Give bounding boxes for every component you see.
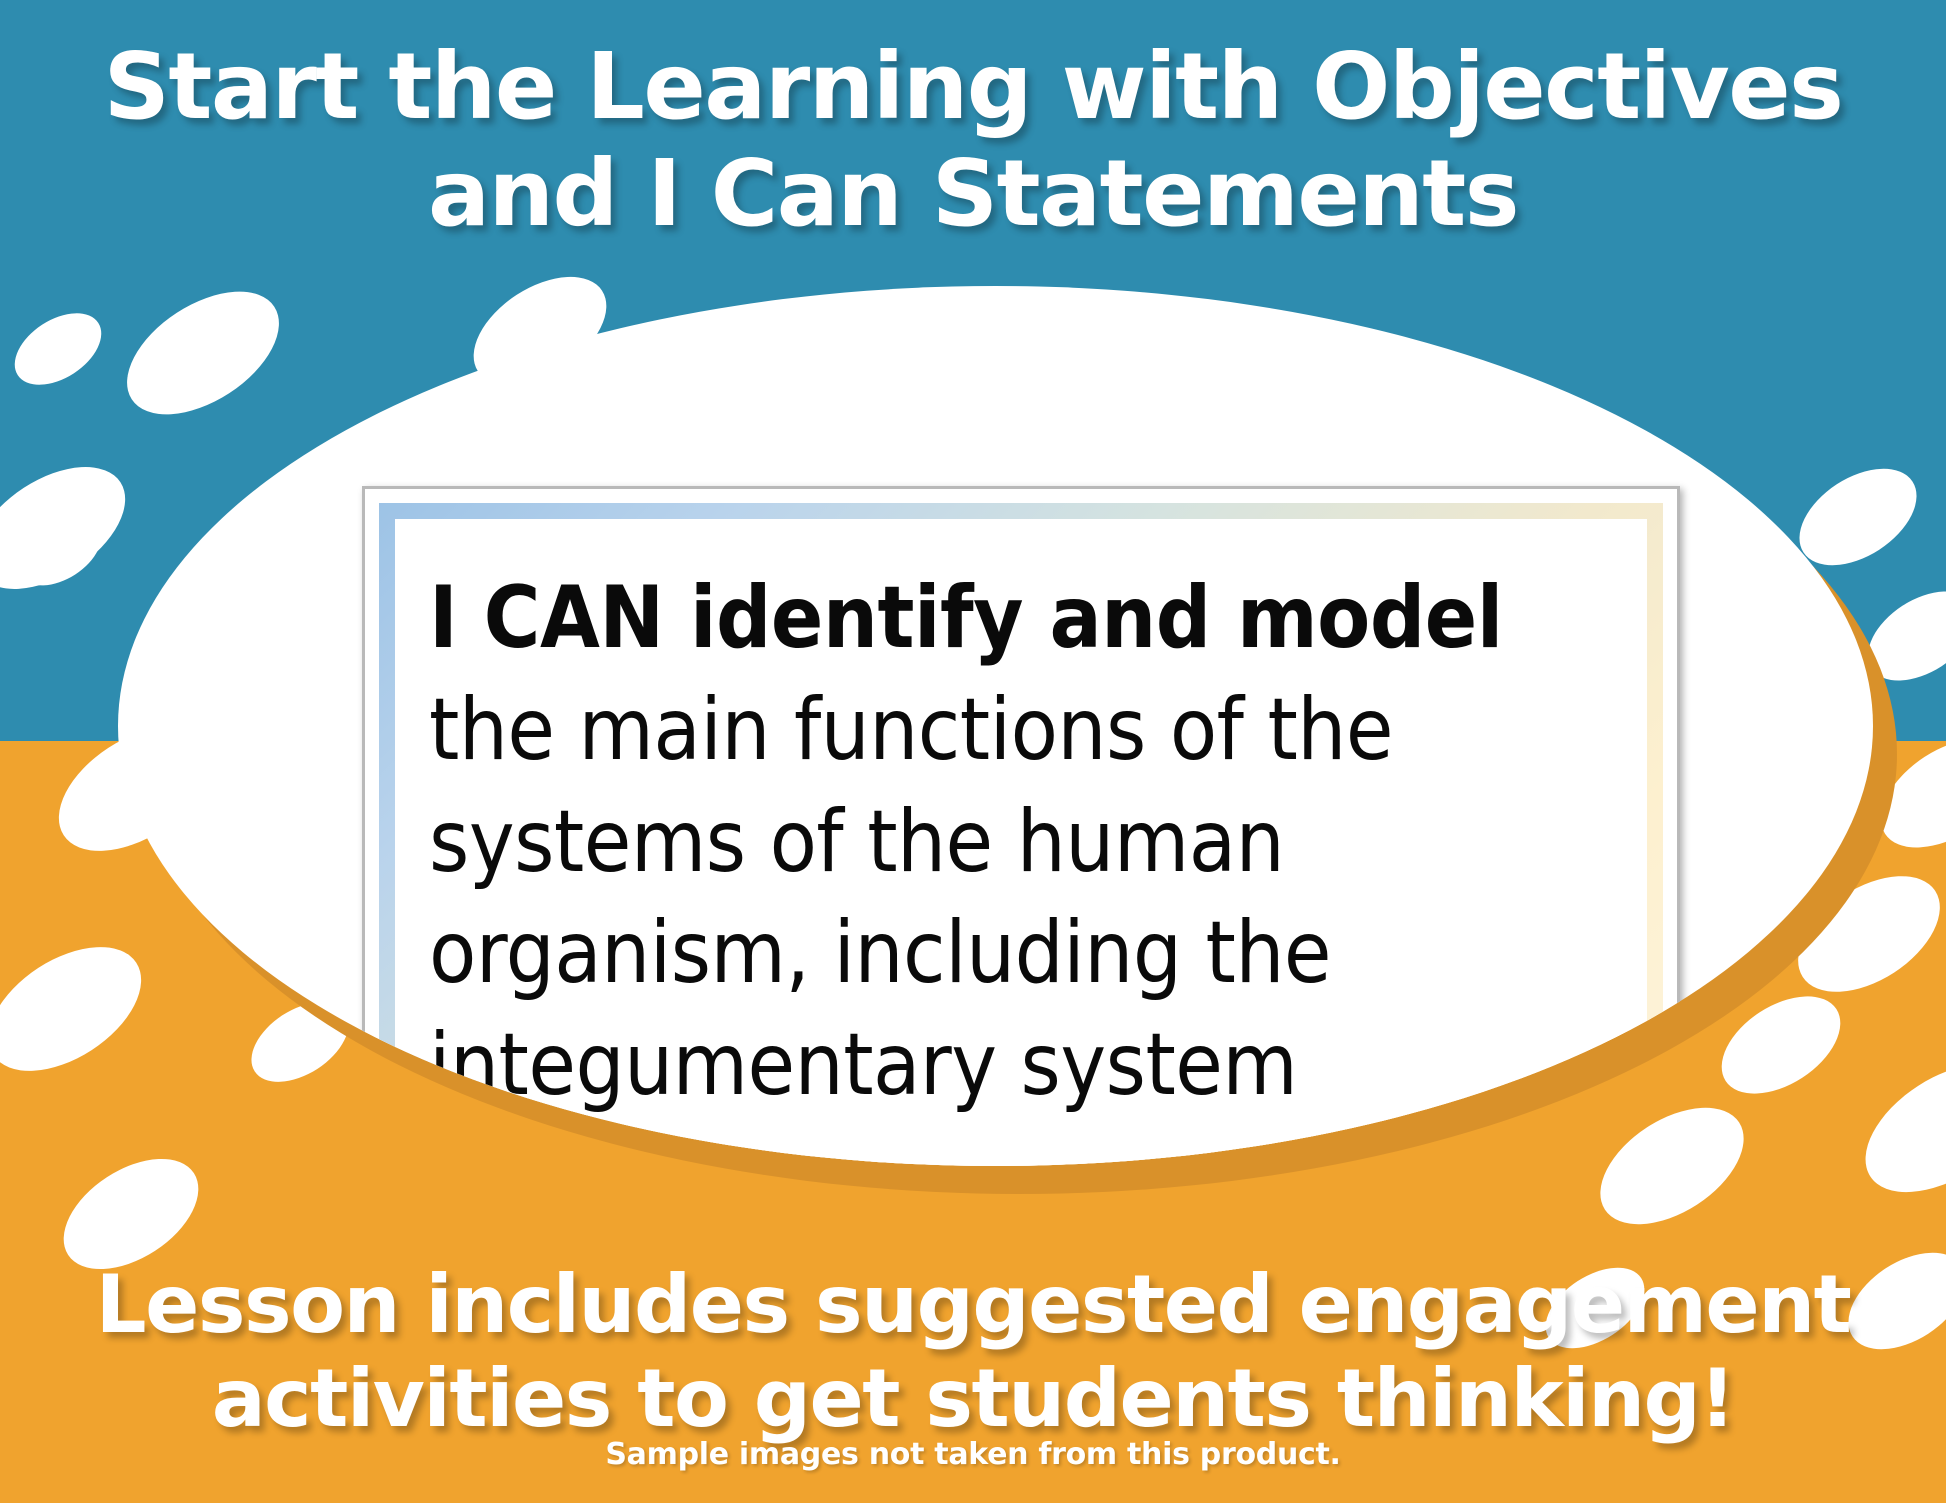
- footer-headline: Lesson includes suggested engagement act…: [0, 1258, 1946, 1447]
- white-oval-panel: I CAN identify and model the main functi…: [118, 286, 1873, 1166]
- card-gradient-frame: I CAN identify and model the main functi…: [379, 503, 1663, 1166]
- title-line-1: Start the Learning with Objectives: [0, 34, 1946, 141]
- footer-line-2: activities to get students thinking!: [0, 1352, 1946, 1446]
- disclaimer-caption: Sample images not taken from this produc…: [0, 1437, 1946, 1472]
- i-can-statement-body: the main functions of the systems of the…: [429, 680, 1393, 1115]
- footer-line-1: Lesson includes suggested engagement: [0, 1258, 1946, 1352]
- i-can-statement-text: I CAN identify and model the main functi…: [429, 563, 1613, 1122]
- card-inner-white: I CAN identify and model the main functi…: [395, 519, 1647, 1166]
- i-can-statement-card: I CAN identify and model the main functi…: [362, 486, 1680, 1166]
- i-can-statement-emphasis: I CAN identify and model: [429, 568, 1503, 668]
- slide-canvas: I CAN identify and model the main functi…: [0, 0, 1946, 1503]
- title-line-2: and I Can Statements: [0, 141, 1946, 248]
- page-title: Start the Learning with Objectives and I…: [0, 34, 1946, 247]
